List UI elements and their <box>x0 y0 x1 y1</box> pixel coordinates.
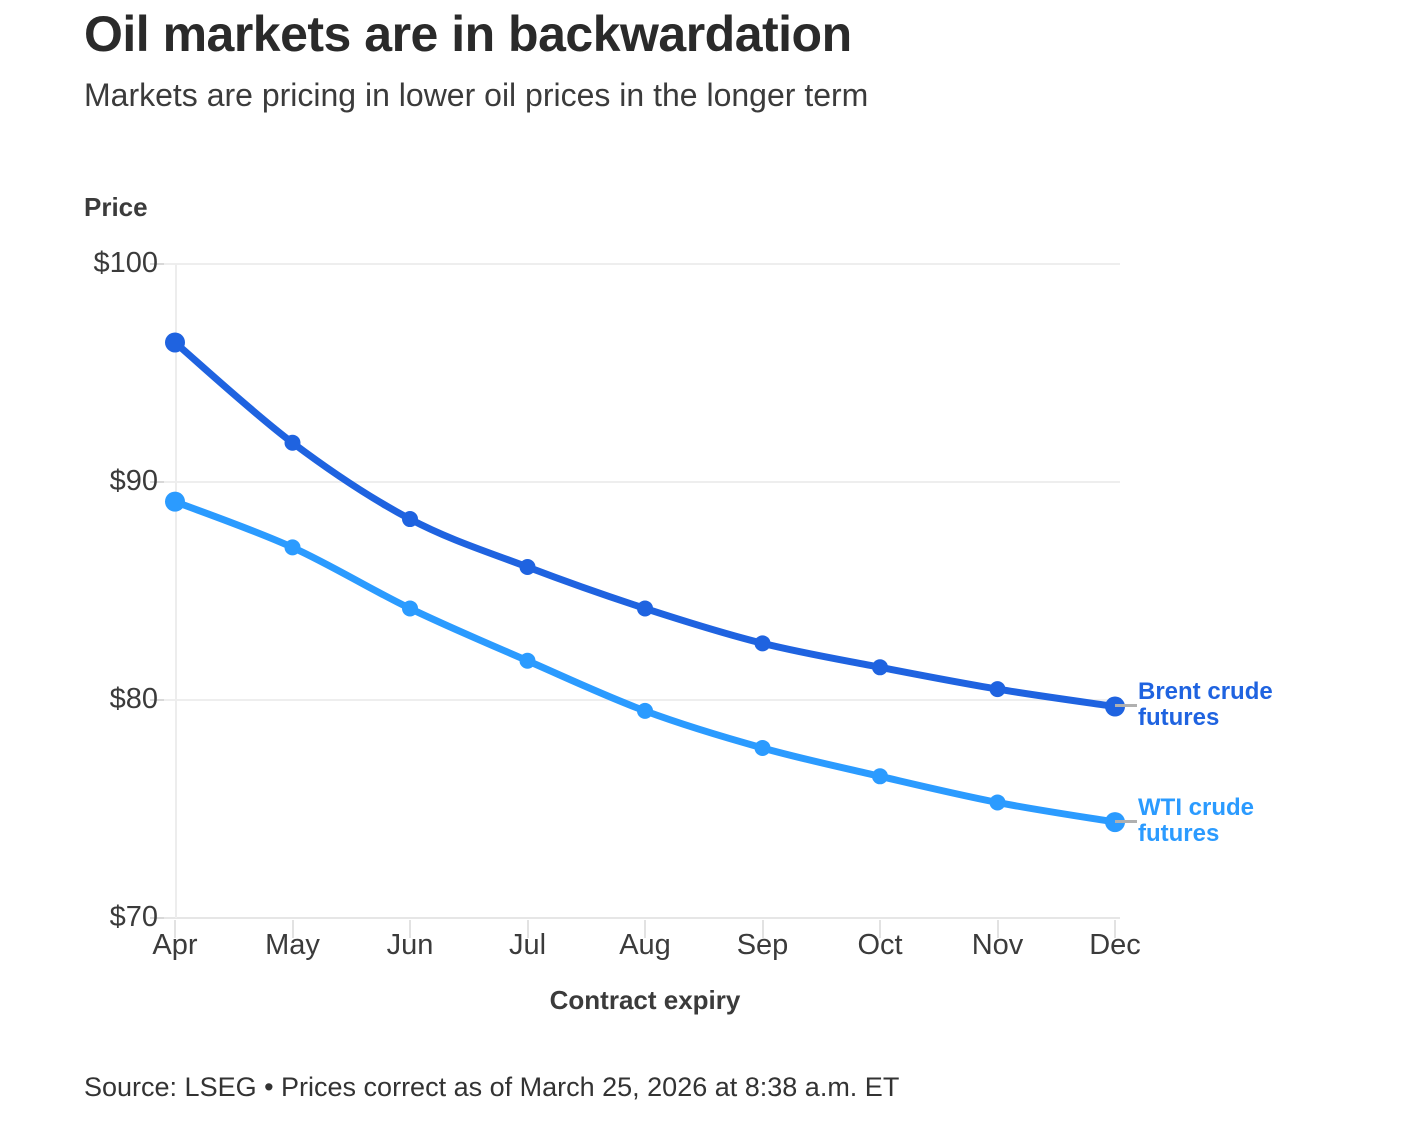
wti-label-stem <box>1115 820 1137 823</box>
data-point-marker[interactable] <box>402 600 418 616</box>
chart-page: Oil markets are in backwardation Markets… <box>0 0 1406 1128</box>
data-point-marker[interactable] <box>520 559 536 575</box>
data-point-marker[interactable] <box>285 539 301 555</box>
data-point-marker[interactable] <box>990 794 1006 810</box>
data-point-marker[interactable] <box>755 635 771 651</box>
series-line <box>175 502 1115 822</box>
data-point-marker[interactable] <box>990 681 1006 697</box>
source-note: Source: LSEG • Prices correct as of Marc… <box>84 1072 899 1103</box>
data-point-marker[interactable] <box>872 659 888 675</box>
data-point-marker[interactable] <box>755 740 771 756</box>
data-point-marker[interactable] <box>165 492 185 512</box>
data-point-marker[interactable] <box>165 332 185 352</box>
data-point-marker[interactable] <box>637 600 653 616</box>
legend-label-wti: WTI crude futures <box>1138 795 1254 847</box>
legend-label-brent: Brent crude futures <box>1138 679 1273 731</box>
data-point-marker[interactable] <box>402 511 418 527</box>
series-line <box>175 342 1115 706</box>
data-point-marker[interactable] <box>520 653 536 669</box>
data-point-marker[interactable] <box>872 768 888 784</box>
plot-area: Price $100$90$80$70 AprMayJunJulAugSepOc… <box>0 0 1406 1128</box>
data-point-marker[interactable] <box>637 703 653 719</box>
data-point-marker[interactable] <box>285 435 301 451</box>
brent-label-stem <box>1115 704 1137 707</box>
x-axis-title: Contract expiry <box>175 985 1115 1016</box>
series-canvas <box>0 0 1406 1128</box>
